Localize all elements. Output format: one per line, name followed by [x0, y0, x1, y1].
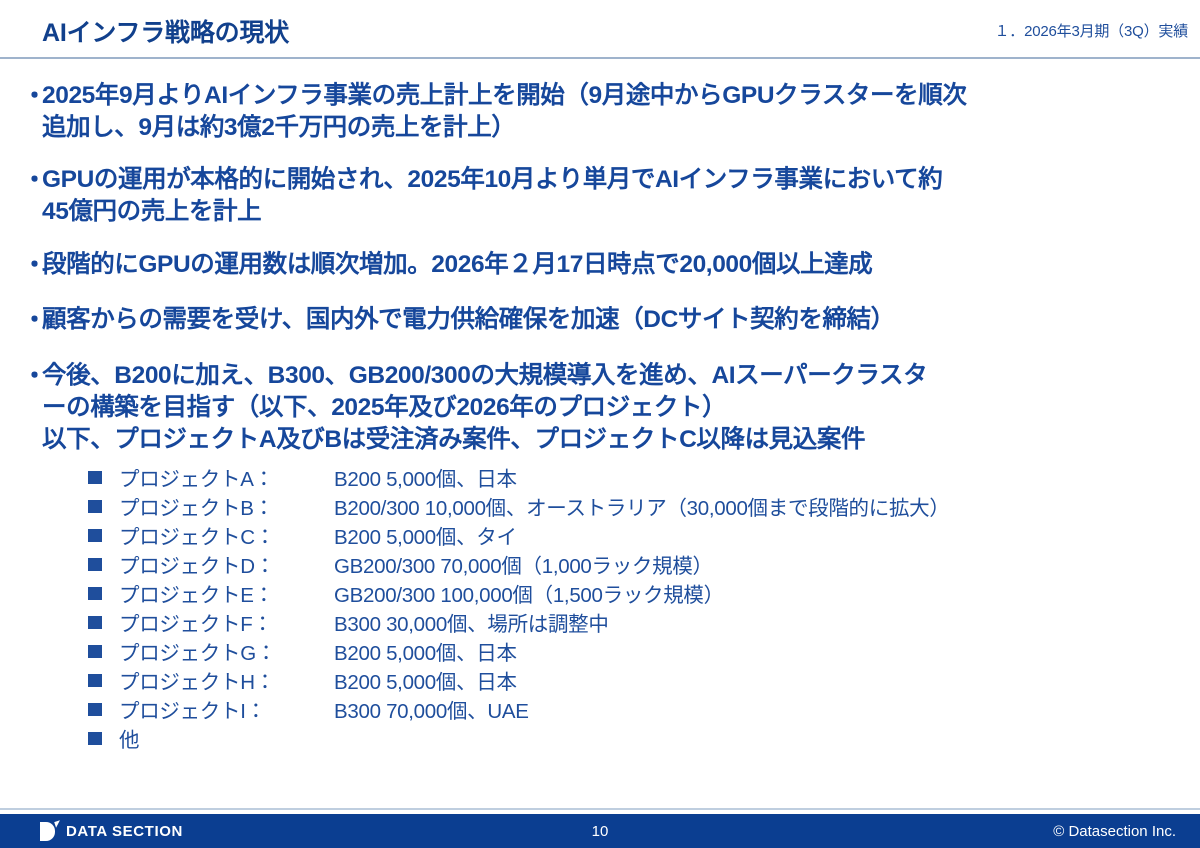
bullet-item: ・ GPUの運用が本格的に開始され、2025年10月より単月でAIインフラ事業に…: [0, 164, 1200, 228]
project-description: B200 5,000個、日本: [334, 636, 1200, 666]
square-bullet-icon: [88, 703, 102, 716]
page-title: AIインフラ戦略の現状: [42, 13, 289, 49]
bullet-line: 45億円の売上を計上: [42, 196, 1174, 228]
slide-header: AIインフラ戦略の現状 １．2026年3月期（3Q）実績: [0, 0, 1200, 56]
bullet-line: 追加し、9月は約3億2千万円の売上を計上）: [42, 112, 1174, 144]
square-bullet-icon: [88, 471, 102, 484]
bullet-item: ・ 顧客からの需要を受け、国内外で電力供給確保を加速（DCサイト契約を締結）: [0, 304, 1200, 337]
project-label: プロジェクトD：: [119, 549, 334, 579]
bullet-line: 以下、プロジェクトA及びBは受注済み案件、プロジェクトC以降は見込案件: [42, 424, 1174, 456]
bullet-line: 段階的にGPUの運用数は順次増加。2026年２月17日時点で20,000個以上達…: [42, 249, 1174, 281]
list-item: プロジェクトG： B200 5,000個、日本: [88, 636, 1200, 665]
project-label: プロジェクトE：: [119, 578, 334, 608]
bullet-text: 今後、B200に加え、B300、GB200/300の大規模導入を進め、AIスーパ…: [42, 360, 1174, 456]
bullet-item: ・ 2025年9月よりAIインフラ事業の売上計上を開始（9月途中からGPUクラス…: [0, 80, 1200, 144]
list-item: プロジェクトD： GB200/300 70,000個（1,000ラック規模）: [88, 549, 1200, 578]
slide-body: ・ 2025年9月よりAIインフラ事業の売上計上を開始（9月途中からGPUクラス…: [0, 80, 1200, 752]
list-item: プロジェクトC： B200 5,000個、タイ: [88, 520, 1200, 549]
slide: AIインフラ戦略の現状 １．2026年3月期（3Q）実績 ・ 2025年9月より…: [0, 0, 1200, 848]
list-item: プロジェクトI： B300 70,000個、UAE: [88, 694, 1200, 723]
page-number: 10: [0, 814, 1200, 848]
bullet-line: GPUの運用が本格的に開始され、2025年10月より単月でAIインフラ事業におい…: [42, 164, 1174, 196]
bullet-line: 2025年9月よりAIインフラ事業の売上計上を開始（9月途中からGPUクラスター…: [42, 80, 1174, 112]
square-bullet-icon: [88, 645, 102, 658]
square-bullet-icon: [88, 587, 102, 600]
project-description: B200 5,000個、タイ: [334, 520, 1200, 550]
middot-bullet-icon: ・: [22, 304, 42, 337]
square-bullet-icon: [88, 674, 102, 687]
middot-bullet-icon: ・: [22, 80, 42, 113]
list-item: 他: [88, 723, 1200, 752]
middot-bullet-icon: ・: [22, 164, 42, 197]
list-item: プロジェクトA： B200 5,000個、日本: [88, 462, 1200, 491]
bullet-text: GPUの運用が本格的に開始され、2025年10月より単月でAIインフラ事業におい…: [42, 164, 1174, 228]
copyright-notice: © Datasection Inc.: [1053, 814, 1176, 848]
project-list: プロジェクトA： B200 5,000個、日本 プロジェクトB： B200/30…: [0, 462, 1200, 752]
project-label: プロジェクトA：: [119, 462, 334, 492]
project-description: B200/300 10,000個、オーストラリア（30,000個まで段階的に拡大…: [334, 491, 1200, 521]
bullet-item: ・ 段階的にGPUの運用数は順次増加。2026年２月17日時点で20,000個以…: [0, 249, 1200, 282]
project-description: B200 5,000個、日本: [334, 665, 1200, 695]
bullet-text: 顧客からの需要を受け、国内外で電力供給確保を加速（DCサイト契約を締結）: [42, 304, 1174, 336]
project-label: プロジェクトG：: [119, 636, 334, 666]
square-bullet-icon: [88, 616, 102, 629]
project-label: プロジェクトC：: [119, 520, 334, 550]
project-description: B200 5,000個、日本: [334, 462, 1200, 492]
project-description: GB200/300 70,000個（1,000ラック規模）: [334, 549, 1200, 579]
square-bullet-icon: [88, 500, 102, 513]
project-description: GB200/300 100,000個（1,500ラック規模）: [334, 578, 1200, 608]
list-item: プロジェクトB： B200/300 10,000個、オーストラリア（30,000…: [88, 491, 1200, 520]
header-divider: [0, 57, 1200, 59]
middot-bullet-icon: ・: [22, 360, 42, 393]
slide-footer: DATA SECTION 10 © Datasection Inc.: [0, 814, 1200, 848]
bullet-line: 顧客からの需要を受け、国内外で電力供給確保を加速（DCサイト契約を締結）: [42, 304, 1174, 336]
list-item: プロジェクトH： B200 5,000個、日本: [88, 665, 1200, 694]
bullet-text: 2025年9月よりAIインフラ事業の売上計上を開始（9月途中からGPUクラスター…: [42, 80, 1174, 144]
list-item: プロジェクトE： GB200/300 100,000個（1,500ラック規模）: [88, 578, 1200, 607]
list-item: プロジェクトF： B300 30,000個、場所は調整中: [88, 607, 1200, 636]
footer-divider: [0, 808, 1200, 810]
bullet-line: ーの構築を目指す（以下、2025年及び2026年のプロジェクト）: [42, 392, 1174, 424]
project-description: B300 30,000個、場所は調整中: [334, 607, 1200, 637]
middot-bullet-icon: ・: [22, 249, 42, 282]
square-bullet-icon: [88, 732, 102, 745]
bullet-line: 今後、B200に加え、B300、GB200/300の大規模導入を進め、AIスーパ…: [42, 360, 1174, 392]
project-label: 他: [119, 723, 334, 753]
bullet-text: 段階的にGPUの運用数は順次増加。2026年２月17日時点で20,000個以上達…: [42, 249, 1174, 281]
header-section-label: １．2026年3月期（3Q）実績: [994, 20, 1188, 41]
project-label: プロジェクトH：: [119, 665, 334, 695]
bullet-item: ・ 今後、B200に加え、B300、GB200/300の大規模導入を進め、AIス…: [0, 360, 1200, 456]
project-label: プロジェクトF：: [119, 607, 334, 637]
project-description: B300 70,000個、UAE: [334, 694, 1200, 724]
project-label: プロジェクトB：: [119, 491, 334, 521]
square-bullet-icon: [88, 558, 102, 571]
project-label: プロジェクトI：: [119, 694, 334, 724]
square-bullet-icon: [88, 529, 102, 542]
